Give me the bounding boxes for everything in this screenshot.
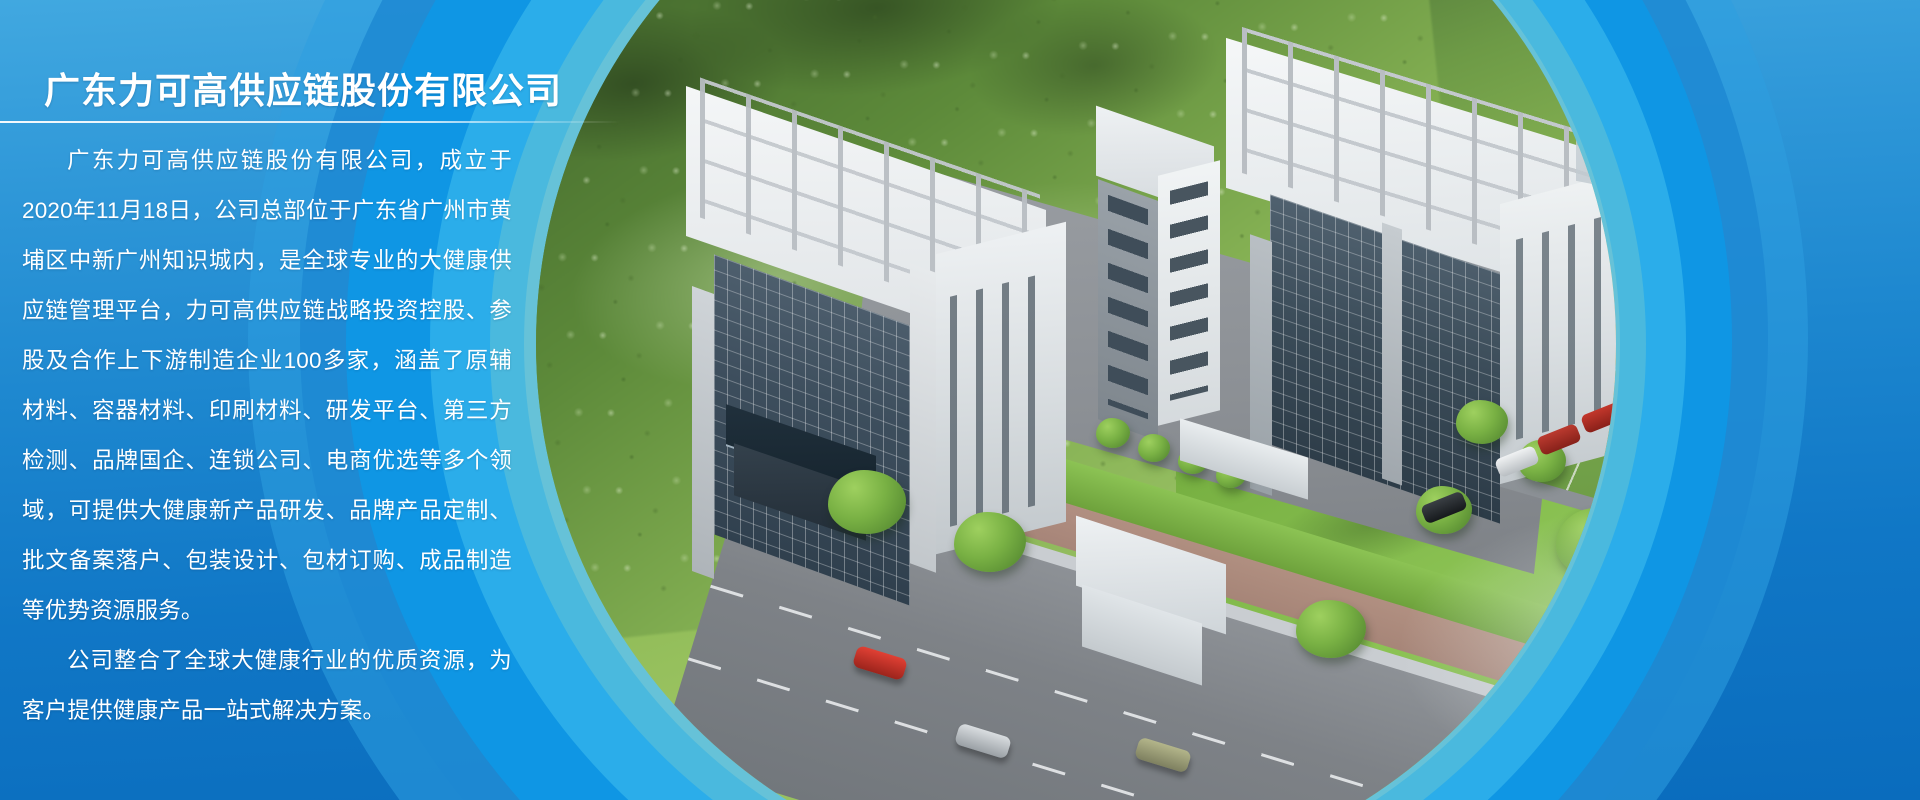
tower-pilaster-a [692,286,714,579]
tree [954,512,1026,572]
company-description: 广东力可高供应链股份有限公司，成立于2020年11月18日，公司总部位于广东省广… [22,136,512,736]
tree [1456,400,1508,444]
tree [1138,434,1170,462]
aerial-rendering-image [536,0,1616,800]
tower-pilaster-b [910,263,936,572]
atmospheric-haze-upper [1576,0,1616,270]
description-paragraph-2: 公司整合了全球大健康行业的优质资源，为客户提供健康产品一站式解决方案。 [22,636,512,736]
banner-stage: 广东力可高供应链股份有限公司 广东力可高供应链股份有限公司，成立于2020年11… [0,0,1920,800]
stair-core-side [1158,160,1220,425]
title-divider-rule [0,121,620,123]
building-factory-right [1226,74,1616,474]
page-title: 广东力可高供应链股份有限公司 [44,62,562,114]
atmospheric-haze-lower [1396,500,1616,800]
stair-core-windows-side [1170,181,1208,400]
stair-core-front [1098,179,1158,441]
tree [1096,418,1130,448]
tower-side-wall [936,222,1066,554]
stair-core-windows-front [1108,195,1148,420]
building-guard-house [1076,540,1276,670]
tree [828,470,906,534]
text-content-panel: 广东力可高供应链股份有限公司 广东力可高供应链股份有限公司，成立于2020年11… [0,0,640,800]
tower-side-window-slits [950,271,1054,527]
factory-pilaster-b [1382,223,1402,486]
tree [1296,600,1366,658]
description-paragraph-1: 广东力可高供应链股份有限公司，成立于2020年11月18日，公司总部位于广东省广… [22,136,512,636]
aerial-photo-circle-mask [536,0,1616,800]
